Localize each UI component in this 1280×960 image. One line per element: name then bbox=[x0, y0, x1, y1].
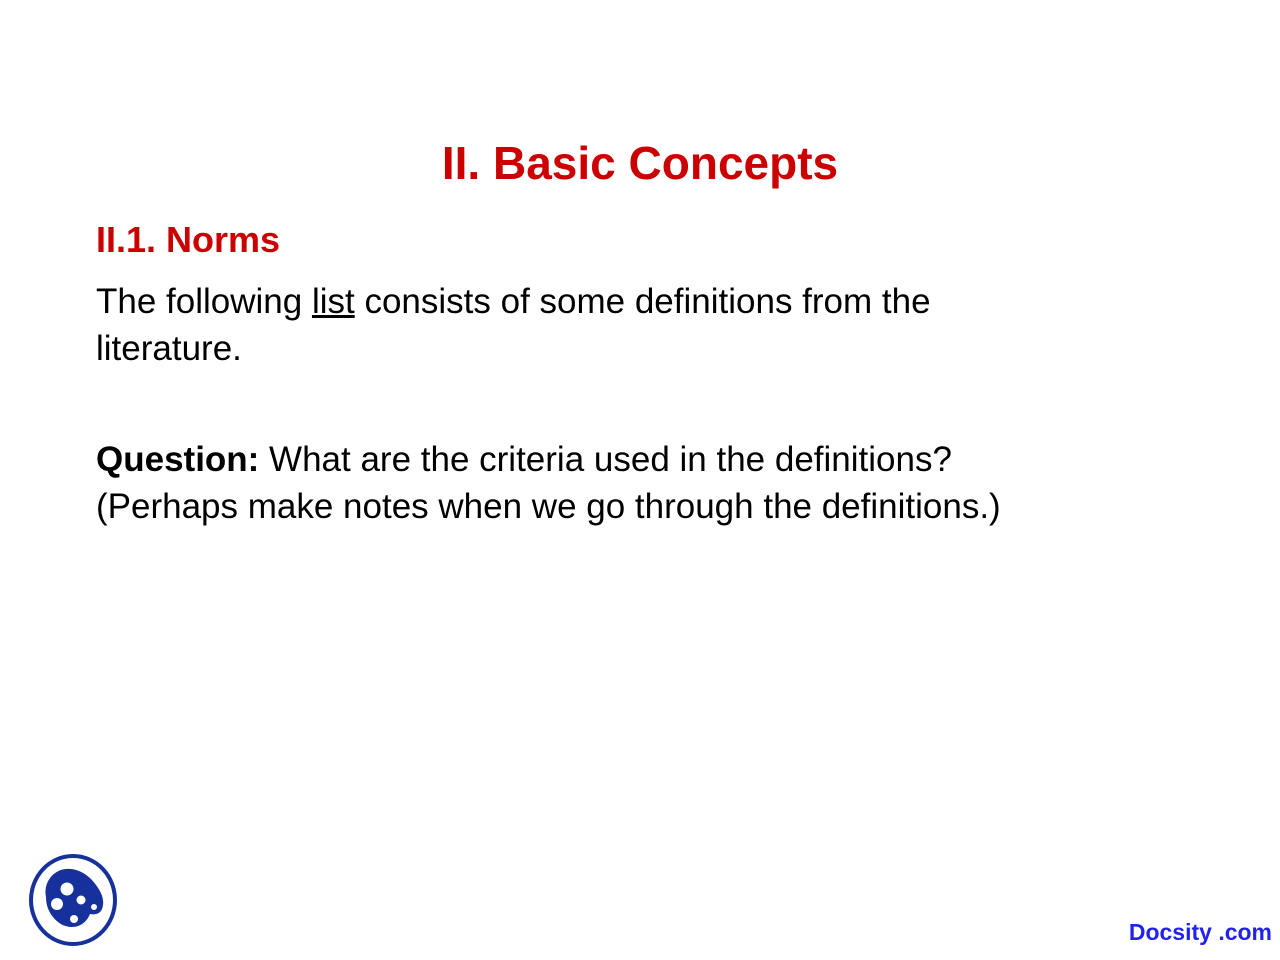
intro-line-2: literature. bbox=[96, 325, 1106, 372]
slide-canvas: II. Basic Concepts II.1. Norms The follo… bbox=[0, 0, 1280, 960]
intro-text-before: The following bbox=[96, 282, 312, 321]
question-text: What are the criteria used in the defini… bbox=[259, 440, 952, 479]
question-line-1: Question: What are the criteria used in … bbox=[96, 436, 1186, 483]
docsity-logo-icon bbox=[26, 853, 120, 947]
intro-line-1: The following list consists of some defi… bbox=[96, 278, 1106, 325]
question-paragraph: Question: What are the criteria used in … bbox=[96, 436, 1186, 530]
intro-text-after: consists of some definitions from the bbox=[355, 282, 931, 321]
section-heading: II.1. Norms bbox=[96, 220, 280, 260]
question-label: Question: bbox=[96, 440, 259, 479]
question-line-2: (Perhaps make notes when we go through t… bbox=[96, 483, 1186, 530]
docsity-wordmark: Docsity .com bbox=[1129, 919, 1272, 946]
intro-underlined-word: list bbox=[312, 282, 355, 321]
intro-paragraph: The following list consists of some defi… bbox=[96, 278, 1106, 372]
page-title: II. Basic Concepts bbox=[0, 139, 1280, 187]
